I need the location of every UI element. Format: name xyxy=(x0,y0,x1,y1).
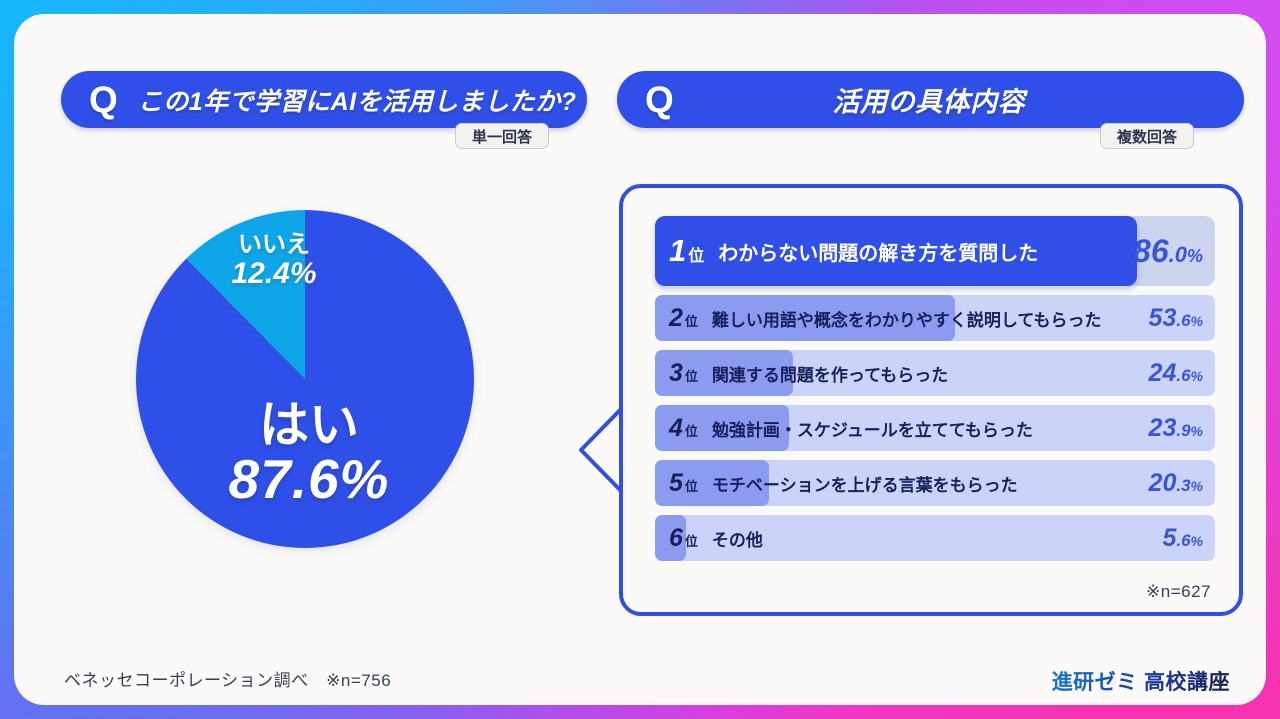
ranking-row: 5位モチベーションを上げる言葉をもらった20.3% xyxy=(655,460,1215,506)
row-content: 1位わからない問題の解き方を質問した86.0% xyxy=(655,216,1215,286)
row-label: わからない問題の解き方を質問した xyxy=(718,237,1038,266)
row-label: 関連する問題を作ってもらった xyxy=(712,361,948,386)
row-label: その他 xyxy=(712,526,763,551)
row-content: 5位モチベーションを上げる言葉をもらった20.3% xyxy=(655,460,1215,506)
row-content: 4位勉強計画・スケジュールを立ててもらった23.9% xyxy=(655,405,1215,451)
question-title-left: この1年で学習にAIを活用しましたか? xyxy=(138,82,577,118)
row-label: 難しい用語や概念をわかりやすく説明してもらった xyxy=(712,306,1102,331)
question-mark-icon-right: Q xyxy=(645,81,674,118)
sample-size-note: ※n=627 xyxy=(1146,582,1211,602)
row-content: 6位その他5.6% xyxy=(655,515,1215,561)
rank-number: 4位 xyxy=(669,414,698,443)
row-value: 53.6% xyxy=(1149,304,1203,333)
pie-label-yes-value: 87.6% xyxy=(194,451,424,507)
row-value: 23.9% xyxy=(1149,414,1203,443)
pie-label-no-text: いいえ xyxy=(214,232,334,258)
row-value: 86.0% xyxy=(1133,233,1203,270)
row-value: 20.3% xyxy=(1149,469,1203,498)
ranking-row: 2位難しい用語や概念をわかりやすく説明してもらった53.6% xyxy=(655,295,1215,341)
pie-label-no-value: 12.4% xyxy=(214,258,334,290)
ranking-row: 3位関連する問題を作ってもらった24.6% xyxy=(655,350,1215,396)
pie-label-no: いいえ 12.4% xyxy=(214,232,334,290)
pie-label-yes-text: はい xyxy=(194,400,424,451)
callout-arrow-icon xyxy=(526,404,626,496)
row-label: 勉強計画・スケジュールを立ててもらった xyxy=(712,416,1033,441)
pie-chart: いいえ 12.4% はい 87.6% xyxy=(136,210,536,550)
row-content: 3位関連する問題を作ってもらった24.6% xyxy=(655,350,1215,396)
ranking-row: 6位その他5.6% xyxy=(655,515,1215,561)
pie-label-yes: はい 87.6% xyxy=(194,400,424,507)
brand-logo: 進研ゼミ 高校講座 xyxy=(1052,666,1230,696)
rank-number: 1位 xyxy=(669,233,704,269)
rank-number: 3位 xyxy=(669,359,698,388)
rank-number: 5位 xyxy=(669,469,698,498)
rank-number: 6位 xyxy=(669,524,698,553)
row-value: 5.6% xyxy=(1162,524,1203,553)
question-title-right: 活用の具体内容 xyxy=(833,80,1086,119)
row-content: 2位難しい用語や概念をわかりやすく説明してもらった53.6% xyxy=(655,295,1215,341)
question-mark-icon: Q xyxy=(89,81,118,118)
question-header-right: Q 活用の具体内容 xyxy=(617,71,1244,128)
question-header-left: Q この1年で学習にAIを活用しましたか? xyxy=(61,71,587,128)
infographic-card: Q この1年で学習にAIを活用しましたか? 単一回答 Q 活用の具体内容 複数回… xyxy=(14,14,1266,705)
rank-number: 2位 xyxy=(669,304,698,333)
ranking-row: 4位勉強計画・スケジュールを立ててもらった23.9% xyxy=(655,405,1215,451)
row-label: モチベーションを上げる言葉をもらった xyxy=(712,471,1018,496)
ranking-panel: 1位わからない問題の解き方を質問した86.0%2位難しい用語や概念をわかりやすく… xyxy=(619,184,1243,616)
source-note: ベネッセコーポレーション調べ ※n=756 xyxy=(64,666,391,691)
ranking-row: 1位わからない問題の解き方を質問した86.0% xyxy=(655,216,1215,286)
answer-type-badge-single: 単一回答 xyxy=(455,123,549,149)
row-value: 24.6% xyxy=(1149,359,1203,388)
ranking-rows: 1位わからない問題の解き方を質問した86.0%2位難しい用語や概念をわかりやすく… xyxy=(655,216,1215,570)
answer-type-badge-multiple: 複数回答 xyxy=(1100,123,1194,149)
